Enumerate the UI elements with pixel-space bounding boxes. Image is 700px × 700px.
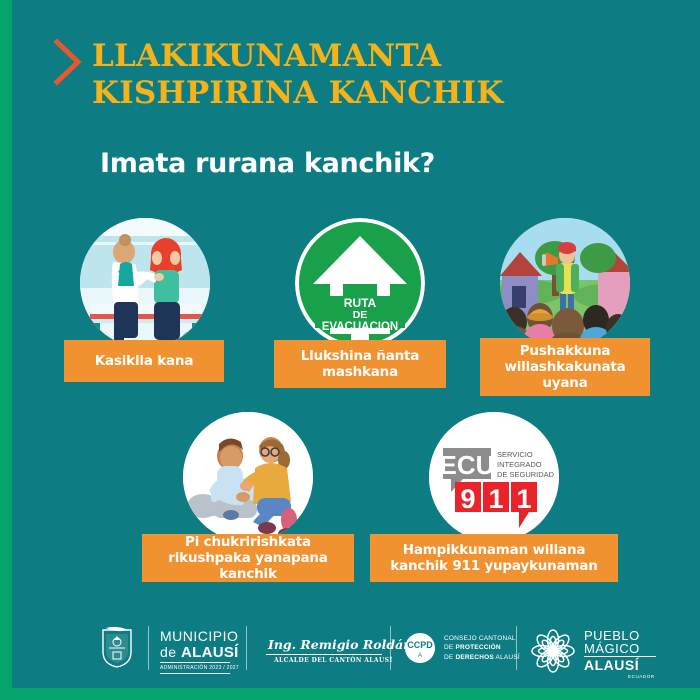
- card-label: Llukshina ñanta mashkana: [274, 340, 446, 388]
- ccpd-logo-text: CCPD: [407, 640, 433, 650]
- ccpd-line3-prefix: DE: [444, 654, 455, 661]
- ccpd-line2-prefix: DE: [444, 644, 455, 651]
- card-evacuation-route: RUTA DE EVACUACION Llukshina ñanta mashk…: [274, 218, 446, 414]
- card-label: Pi chukririshkata rikushpaka yanapana ka…: [142, 534, 354, 582]
- municipality-line2: de ALAUSÍ: [160, 644, 239, 661]
- card-label: Hampikkunaman willana kanchik 911 yupayk…: [370, 534, 618, 582]
- page-title: LLAKIKUNAMANTA KISHPIRINA KANCHIK: [92, 38, 652, 111]
- ccpd-circle-logo: CCPD A: [404, 632, 436, 664]
- mayor-role: ALCALDE DEL CANTÓN ALAUSÍ: [274, 657, 393, 664]
- municipality-administration: ADMINISTRACIÓN 2023 / 2027: [160, 665, 239, 671]
- municipality-rule-2: [160, 673, 230, 674]
- footer-divider-3: [390, 626, 391, 670]
- ccpd-logo-subglyph: A: [418, 653, 422, 659]
- footer-divider-2: [246, 626, 247, 670]
- evacuation-route-sign: RUTA DE EVACUACION: [295, 218, 425, 348]
- evac-text-line2: DE: [353, 309, 368, 321]
- mayor-rule: [266, 654, 382, 655]
- illustration-person-with-megaphone-addressing-crowd: [500, 218, 630, 348]
- ecu-number-1a: 1: [488, 484, 503, 514]
- municipality-line2-prefix: de: [160, 644, 181, 660]
- card-calm: Kasiklla kana: [64, 218, 224, 408]
- card-label: Kasiklla kana: [64, 340, 224, 382]
- illustration-two-people-on-bench-comforting: [80, 218, 210, 348]
- card-listen-leaders: Pushakkuna willashkakunata uyana: [480, 218, 650, 422]
- pueblo-magico-rosette-icon: [530, 628, 576, 674]
- ecu-logo-text: ECU: [440, 450, 495, 480]
- poster-root: LLAKIKUNAMANTA KISHPIRINA KANCHIK Imata …: [0, 0, 700, 700]
- ecu-number-1b: 1: [516, 484, 531, 514]
- municipality-line1: MUNICIPIO: [160, 628, 238, 644]
- footer-divider-1: [148, 626, 149, 670]
- evac-text-line1: RUTA: [344, 296, 377, 310]
- ecu-tagline-line2: INTEGRADO: [497, 460, 542, 469]
- municipality-rule: [160, 662, 230, 663]
- card-call-911: ECU SERVICIO INTEGRADO DE SEGURIDAD 9 1 …: [370, 412, 618, 594]
- alausi-coat-of-arms: [100, 626, 134, 668]
- page-subtitle: Imata rurana kanchik?: [100, 148, 660, 179]
- footer: MUNICIPIO de ALAUSÍ ADMINISTRACIÓN 2023 …: [24, 612, 700, 688]
- ccpd-line3-strong: DERECHOS: [455, 654, 493, 661]
- municipality-line2-strong: ALAUSÍ: [181, 644, 239, 661]
- pueblo-magico-line2: MÁGICO: [584, 641, 640, 656]
- footer-divider-4: [516, 626, 517, 670]
- chevron-right-icon: [53, 38, 83, 86]
- card-help-injured: Pi chukririshkata rikushpaka yanapana ka…: [142, 412, 354, 594]
- pueblo-magico-line3: ALAUSÍ: [584, 657, 639, 673]
- poster-inner-panel: LLAKIKUNAMANTA KISHPIRINA KANCHIK Imata …: [12, 0, 700, 688]
- ecu-911-logo: ECU SERVICIO INTEGRADO DE SEGURIDAD 9 1 …: [429, 412, 559, 542]
- ecu-number-9: 9: [460, 484, 475, 514]
- ccpd-line2-strong: PROTECCIÓN: [455, 644, 500, 651]
- illustration-woman-helping-injured-man-on-ground: [183, 412, 313, 542]
- ecu-tagline-line3: DE SEGURIDAD: [497, 470, 555, 479]
- pueblo-magico-line4: ECUADOR: [628, 674, 655, 679]
- card-label: Pushakkuna willashkakunata uyana: [480, 338, 650, 396]
- ecu-tagline-line1: SERVICIO: [497, 450, 533, 459]
